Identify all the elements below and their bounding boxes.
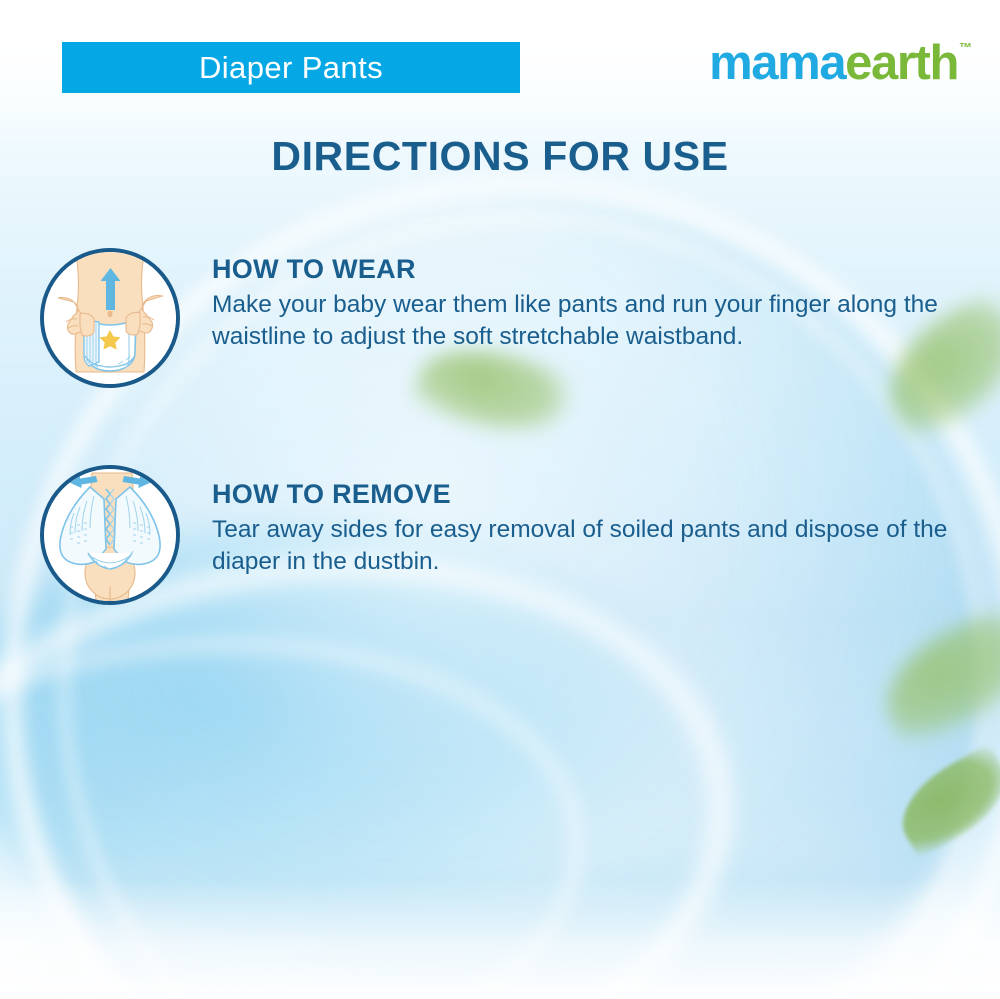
- trademark-symbol: ™: [959, 41, 972, 54]
- baby-wearing-diaper-pants-icon: [40, 248, 180, 388]
- section-body: Make your baby wear them like pants and …: [212, 289, 982, 354]
- section-text-how-to-wear: HOW TO WEAR Make your baby wear them lik…: [212, 248, 982, 354]
- section-body: Tear away sides for easy removal of soil…: [212, 514, 982, 579]
- tear-away-diaper-sides-illustration: [44, 469, 176, 601]
- section-heading: HOW TO WEAR: [212, 254, 982, 285]
- leaf-icon: [886, 743, 1000, 859]
- background-swoosh-inner: [0, 607, 602, 999]
- brand-logo: mama earth ™: [709, 39, 972, 88]
- instruction-section-how-to-wear: HOW TO WEAR Make your baby wear them lik…: [40, 248, 982, 388]
- background-bottom-fade: [0, 879, 1000, 999]
- section-text-how-to-remove: HOW TO REMOVE Tear away sides for easy r…: [212, 465, 982, 579]
- brand-logo-mama: mama: [709, 39, 845, 88]
- baby-wearing-diaper-pants-illustration: [44, 252, 176, 384]
- product-name-banner: Diaper Pants: [62, 42, 520, 93]
- tear-away-diaper-sides-icon: [40, 465, 180, 605]
- brand-logo-earth: earth: [845, 39, 958, 88]
- page-title: DIRECTIONS FOR USE: [0, 133, 1000, 180]
- instruction-section-how-to-remove: HOW TO REMOVE Tear away sides for easy r…: [40, 465, 982, 605]
- directions-for-use-page: Diaper Pants mama earth ™ DIRECTIONS FOR…: [0, 0, 1000, 999]
- product-name-label: Diaper Pants: [199, 50, 383, 86]
- leaf-icon: [868, 601, 1000, 750]
- section-heading: HOW TO REMOVE: [212, 479, 982, 510]
